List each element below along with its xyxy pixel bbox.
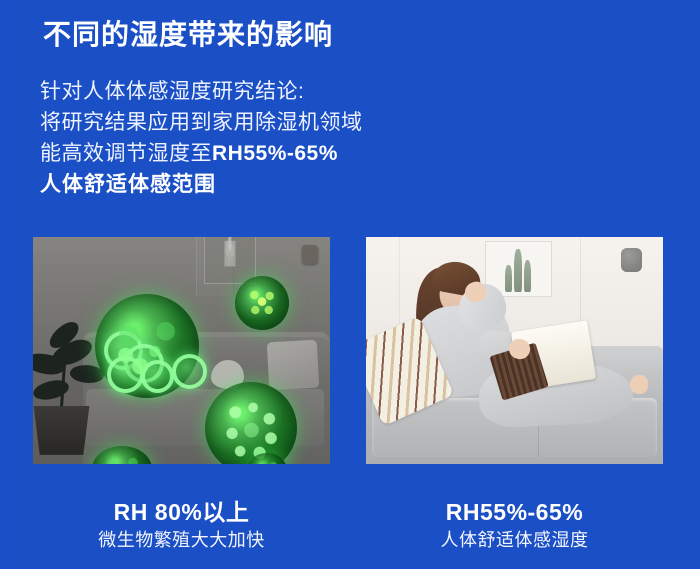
humidity-range-highlight: RH55%-65% [212,142,338,165]
bright-room-scene [366,237,663,464]
plant-leaf [33,379,71,402]
microbe-cell [141,360,174,393]
sofa-cushion [266,340,319,390]
caption-high-humidity: RH 80%以上 微生物繁殖大大加快 [33,498,330,553]
microbe-cell [124,344,163,383]
page-title: 不同的湿度带来的影响 [43,18,333,52]
microbe-sphere-icon [205,382,297,464]
wall-art-plant-graphic [224,237,235,275]
wall-speaker-icon [302,245,318,264]
caption-title: RH55%-65% [366,498,663,527]
humidity-infographic-poster: 不同的湿度带来的影响 针对人体体感湿度研究结论: 将研究结果应用到家用除湿机领域… [0,0,700,569]
caption-subtitle: 微生物繁殖大大加快 [33,527,330,553]
dim-room-scene [33,237,330,464]
body-line-3-prefix: 能高效调节湿度至 [40,142,212,165]
body-line-3: 能高效调节湿度至RH55%-65% [40,138,363,169]
foot [630,375,648,393]
caption-title: RH 80%以上 [33,498,330,527]
left-edge-stripe [5,0,8,569]
microbe-sphere-icon [95,294,199,398]
body-copy: 针对人体体感湿度研究结论: 将研究结果应用到家用除湿机领域 能高效调节湿度至RH… [40,76,363,200]
plant-pot [33,406,92,455]
microbe-cell [104,331,143,370]
body-line-2: 将研究结果应用到家用除湿机领域 [40,107,363,138]
panel-image-comfort-humidity [366,237,663,464]
microbe-sphere-icon [235,276,289,330]
body-line-4: 人体舒适体感范围 [40,169,363,200]
microbe-cell [107,356,144,393]
body-line-1: 针对人体体感湿度研究结论: [40,76,363,107]
caption-comfort-humidity: RH55%-65% 人体舒适体感湿度 [366,498,663,553]
panel-image-high-humidity [33,237,330,464]
wall-art-frame [204,237,256,284]
caption-subtitle: 人体舒适体感湿度 [366,527,663,553]
